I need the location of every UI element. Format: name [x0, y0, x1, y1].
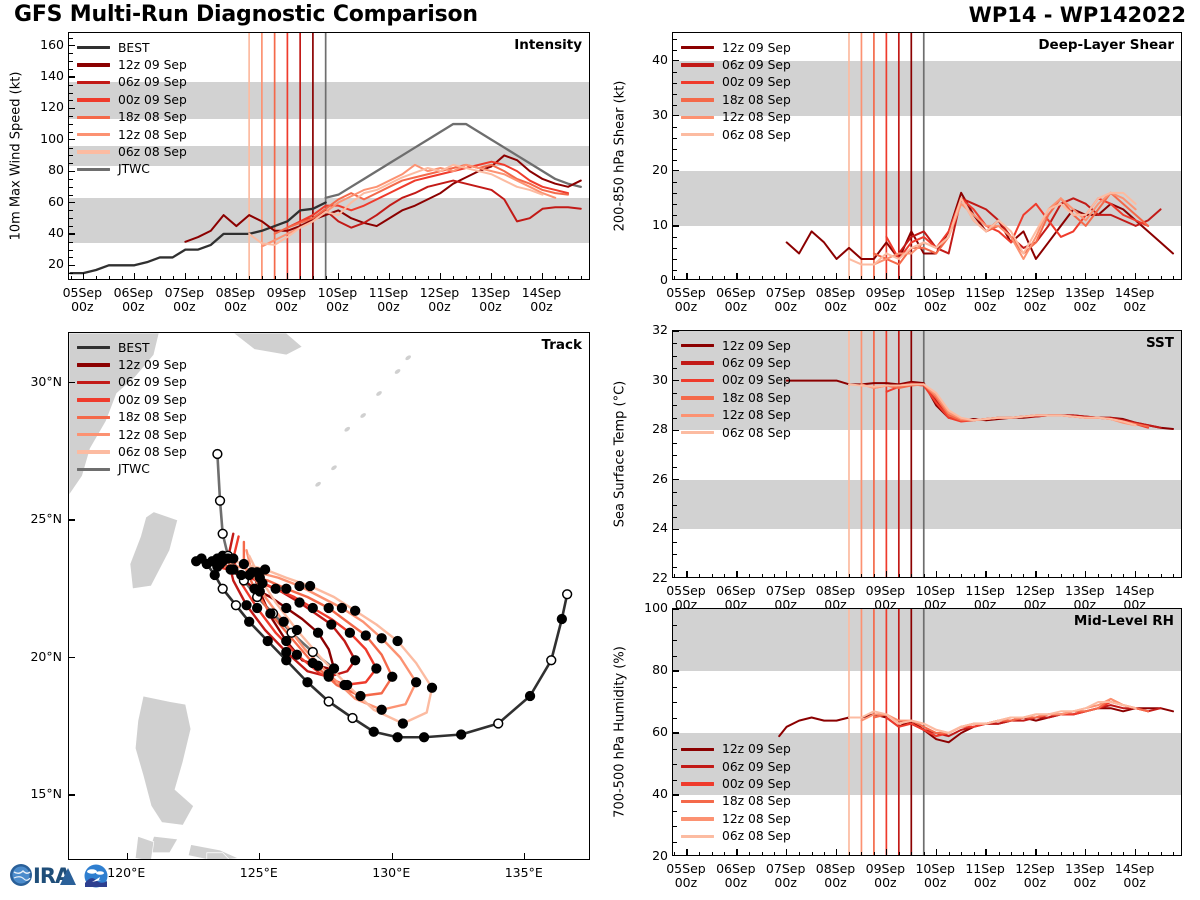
legend-label: 12z 09 Sep: [118, 359, 187, 371]
legend-label: 06z 09 Sep: [722, 357, 791, 369]
x-minor-tick: [874, 852, 875, 856]
x-tick-label: 125°E: [225, 866, 293, 880]
x-tick-mark: [786, 849, 787, 855]
y-minor-tick: [673, 687, 677, 688]
legend-item-best[interactable]: BEST: [77, 39, 187, 56]
legend-item-18z-08-sep[interactable]: 18z 08 Sep: [681, 389, 791, 406]
chart-corner-title: Deep-Layer Shear: [1038, 37, 1174, 53]
panel-shear[interactable]: Deep-Layer Shear12z 09 Sep06z 09 Sep00z …: [672, 32, 1182, 280]
map-frame: TrackBEST12z 09 Sep06z 09 Sep00z 09 Sep1…: [68, 332, 590, 860]
x-minor-tick: [774, 276, 775, 280]
x-minor-tick: [674, 574, 675, 578]
y-minor-tick: [673, 492, 677, 493]
x-tick-mark: [542, 273, 543, 279]
y-minor-tick: [673, 50, 677, 51]
x-minor-tick: [699, 276, 700, 280]
x-tick-mark: [1085, 571, 1086, 577]
x-minor-tick: [999, 574, 1000, 578]
x-minor-tick: [1098, 574, 1099, 578]
panel-sst[interactable]: SST12z 09 Sep06z 09 Sep00z 09 Sep18z 08 …: [672, 330, 1182, 578]
legend-label: 00z 09 Sep: [118, 394, 187, 406]
legend-item-12z-08-sep[interactable]: 12z 08 Sep: [77, 126, 187, 143]
legend-item-jtwc[interactable]: JTWC: [77, 461, 187, 478]
panel-rh[interactable]: Mid-Level RH12z 09 Sep06z 09 Sep00z 09 S…: [672, 608, 1182, 856]
x-minor-tick: [961, 852, 962, 856]
y-minor-tick: [673, 182, 677, 183]
x-minor-tick: [749, 276, 750, 280]
y-tick-label: 25°N: [16, 511, 62, 526]
legend-item-12z-09-sep[interactable]: 12z 09 Sep: [77, 56, 187, 73]
y-minor-tick: [69, 195, 73, 196]
y-minor-tick: [69, 210, 73, 211]
x-minor-tick: [1073, 852, 1074, 856]
x-tick-label: 14Sep00z: [1105, 862, 1165, 890]
y-minor-tick: [673, 640, 677, 641]
y-tick-label: 40: [638, 52, 668, 67]
y-tick-mark: [69, 139, 75, 140]
legend-label: 00z 09 Sep: [722, 374, 791, 386]
legend-item-00z-09-sep[interactable]: 00z 09 Sep: [77, 91, 187, 108]
legend-item-06z-09-sep[interactable]: 06z 09 Sep: [77, 374, 187, 391]
legend-swatch: [77, 133, 110, 136]
x-minor-tick: [712, 852, 713, 856]
y-tick-mark: [69, 657, 75, 658]
y-tick-mark: [673, 115, 679, 116]
legend-swatch: [681, 46, 714, 49]
panel-track[interactable]: TrackBEST12z 09 Sep06z 09 Sep00z 09 Sep1…: [68, 332, 590, 860]
y-minor-tick: [69, 116, 73, 117]
x-minor-tick: [1098, 852, 1099, 856]
chart-corner-title: SST: [1146, 335, 1174, 351]
legend-item-00z-09-sep[interactable]: 00z 09 Sep: [681, 775, 791, 792]
legend-swatch: [681, 133, 714, 136]
x-minor-tick: [428, 276, 429, 280]
y-tick-mark: [673, 380, 679, 381]
legend-swatch: [77, 450, 110, 453]
x-minor-tick: [1148, 276, 1149, 280]
x-minor-tick: [1148, 852, 1149, 856]
y-minor-tick: [673, 138, 677, 139]
y-axis-label: 200-850 hPa Shear (kt): [613, 81, 628, 232]
x-minor-tick: [924, 276, 925, 280]
legend-swatch: [77, 46, 110, 49]
x-minor-tick: [949, 574, 950, 578]
y-tick-mark: [673, 670, 679, 671]
x-minor-tick: [999, 276, 1000, 280]
y-tick-label: 60: [638, 724, 668, 739]
y-minor-tick: [673, 718, 677, 719]
x-minor-tick: [1161, 852, 1162, 856]
legend-swatch: [77, 98, 110, 101]
y-tick-label: 140: [34, 68, 64, 83]
legend-label: 00z 09 Sep: [118, 94, 187, 106]
x-minor-tick: [568, 276, 569, 280]
legend-label: 12z 08 Sep: [118, 429, 187, 441]
y-tick-label: 10: [638, 217, 668, 232]
legend-item-06z-09-sep[interactable]: 06z 09 Sep: [681, 354, 791, 371]
legend-item-06z-09-sep[interactable]: 06z 09 Sep: [681, 758, 791, 775]
chart-legend: BEST12z 09 Sep06z 09 Sep00z 09 Sep18z 08…: [77, 39, 187, 178]
x-minor-tick: [899, 276, 900, 280]
x-tick-mark: [134, 273, 135, 279]
legend-label: 18z 08 Sep: [722, 795, 791, 807]
x-tick-mark: [127, 853, 128, 859]
x-tick-mark: [985, 571, 986, 577]
legend-item-12z-08-sep[interactable]: 12z 08 Sep: [681, 109, 791, 126]
legend-item-12z-08-sep[interactable]: 12z 08 Sep: [681, 810, 791, 827]
y-tick-label: 26: [638, 471, 668, 486]
y-tick-label: 160: [34, 37, 64, 52]
legend-swatch: [77, 398, 110, 401]
x-minor-tick: [799, 276, 800, 280]
legend-label: 00z 09 Sep: [722, 778, 791, 790]
x-tick-mark: [185, 273, 186, 279]
x-tick-label: 135°E: [490, 866, 558, 880]
x-minor-tick: [326, 276, 327, 280]
y-minor-tick: [69, 38, 73, 39]
x-tick-mark: [236, 273, 237, 279]
legend-item-18z-08-sep[interactable]: 18z 08 Sep: [77, 109, 187, 126]
legend-label: 06z 09 Sep: [722, 59, 791, 71]
x-minor-tick: [160, 276, 161, 280]
legend-swatch: [77, 168, 110, 171]
x-tick-mark: [1035, 273, 1036, 279]
x-tick-mark: [1135, 273, 1136, 279]
y-tick-mark: [673, 60, 679, 61]
x-minor-tick: [555, 276, 556, 280]
panel-intensity[interactable]: IntensityBEST12z 09 Sep06z 09 Sep00z 09 …: [68, 32, 590, 280]
cira-logo: IRA: [8, 856, 118, 896]
x-minor-tick: [517, 276, 518, 280]
x-tick-mark: [524, 853, 525, 859]
x-minor-tick: [1161, 276, 1162, 280]
x-tick-mark: [389, 273, 390, 279]
x-tick-mark: [1085, 273, 1086, 279]
x-tick-mark: [786, 571, 787, 577]
legend-item-18z-08-sep[interactable]: 18z 08 Sep: [681, 91, 791, 108]
x-minor-tick: [911, 276, 912, 280]
plot-frame: Mid-Level RH12z 09 Sep06z 09 Sep00z 09 S…: [672, 608, 1182, 856]
x-minor-tick: [1061, 574, 1062, 578]
x-minor-tick: [824, 276, 825, 280]
x-tick-mark: [736, 849, 737, 855]
legend-label: 00z 09 Sep: [722, 76, 791, 88]
x-minor-tick: [849, 574, 850, 578]
legend-swatch: [681, 63, 714, 66]
y-tick-mark: [673, 170, 679, 171]
y-minor-tick: [673, 780, 677, 781]
y-minor-tick: [673, 554, 677, 555]
legend-label: 18z 08 Sep: [118, 411, 187, 423]
y-minor-tick: [673, 193, 677, 194]
legend-swatch: [77, 346, 110, 349]
x-minor-tick: [861, 276, 862, 280]
y-minor-tick: [69, 257, 73, 258]
x-tick-mark: [936, 849, 937, 855]
y-minor-tick: [673, 842, 677, 843]
x-tick-mark: [836, 849, 837, 855]
y-minor-tick: [673, 517, 677, 518]
x-tick-mark: [686, 273, 687, 279]
y-tick-label: 15°N: [16, 786, 62, 801]
y-minor-tick: [69, 242, 73, 243]
x-tick-mark: [1035, 849, 1036, 855]
y-tick-label: 60: [34, 194, 64, 209]
y-minor-tick: [673, 418, 677, 419]
plot-frame: Deep-Layer Shear12z 09 Sep06z 09 Sep00z …: [672, 32, 1182, 280]
x-minor-tick: [924, 852, 925, 856]
legend-swatch: [77, 381, 110, 384]
y-tick-label: 32: [638, 322, 668, 337]
legend-item-00z-09-sep[interactable]: 00z 09 Sep: [681, 74, 791, 91]
x-tick-mark: [886, 273, 887, 279]
y-tick-mark: [69, 265, 75, 266]
legend-swatch: [681, 800, 714, 803]
x-tick-mark: [686, 849, 687, 855]
legend-label: BEST: [118, 42, 150, 54]
x-tick-mark: [1135, 571, 1136, 577]
legend-swatch: [681, 835, 714, 838]
y-minor-tick: [69, 124, 73, 125]
x-tick-mark: [1035, 571, 1036, 577]
x-minor-tick: [1123, 852, 1124, 856]
legend-item-12z-09-sep[interactable]: 12z 09 Sep: [681, 741, 791, 758]
x-tick-mark: [1135, 849, 1136, 855]
x-minor-tick: [999, 852, 1000, 856]
x-minor-tick: [173, 276, 174, 280]
legend-item-12z-08-sep[interactable]: 12z 08 Sep: [681, 407, 791, 424]
y-minor-tick: [69, 163, 73, 164]
plot-frame: SST12z 09 Sep06z 09 Sep00z 09 Sep18z 08 …: [672, 330, 1182, 578]
x-minor-tick: [1061, 276, 1062, 280]
y-tick-label: 30: [638, 372, 668, 387]
legend-swatch: [77, 116, 110, 119]
y-minor-tick: [69, 226, 73, 227]
y-tick-mark: [69, 519, 75, 520]
y-minor-tick: [69, 273, 73, 274]
legend-label: 18z 08 Sep: [722, 94, 791, 106]
x-minor-tick: [479, 276, 480, 280]
x-minor-tick: [799, 852, 800, 856]
x-minor-tick: [453, 276, 454, 280]
x-tick-mark: [886, 571, 887, 577]
legend-label: BEST: [118, 342, 150, 354]
x-minor-tick: [1148, 574, 1149, 578]
legend-label: 06z 08 Sep: [118, 146, 187, 158]
x-tick-mark: [491, 273, 492, 279]
legend-swatch: [77, 468, 110, 471]
legend-item-06z-08-sep[interactable]: 06z 08 Sep: [681, 126, 791, 143]
y-tick-label: 20: [638, 848, 668, 863]
x-minor-tick: [874, 276, 875, 280]
x-minor-tick: [712, 276, 713, 280]
y-tick-label: 20: [34, 256, 64, 271]
legend-swatch: [681, 344, 714, 347]
y-minor-tick: [69, 250, 73, 251]
y-minor-tick: [673, 393, 677, 394]
legend-item-12z-08-sep[interactable]: 12z 08 Sep: [77, 426, 187, 443]
x-tick-mark: [936, 273, 937, 279]
x-minor-tick: [1011, 852, 1012, 856]
x-minor-tick: [351, 276, 352, 280]
x-minor-tick: [724, 276, 725, 280]
y-minor-tick: [673, 467, 677, 468]
x-tick-mark: [836, 571, 837, 577]
x-minor-tick: [961, 574, 962, 578]
legend-swatch: [77, 150, 110, 153]
x-minor-tick: [300, 276, 301, 280]
x-minor-tick: [712, 574, 713, 578]
y-minor-tick: [69, 85, 73, 86]
x-minor-tick: [874, 574, 875, 578]
x-minor-tick: [824, 852, 825, 856]
y-tick-label: 30°N: [16, 374, 62, 389]
y-minor-tick: [673, 368, 677, 369]
legend-label: 06z 09 Sep: [118, 76, 187, 88]
legend-item-06z-08-sep[interactable]: 06z 08 Sep: [77, 143, 187, 160]
x-minor-tick: [974, 852, 975, 856]
x-minor-tick: [812, 574, 813, 578]
x-minor-tick: [275, 276, 276, 280]
legend-swatch: [681, 379, 714, 382]
y-tick-mark: [69, 202, 75, 203]
x-tick-mark: [1085, 849, 1086, 855]
legend-item-jtwc[interactable]: JTWC: [77, 161, 187, 178]
x-minor-tick: [949, 852, 950, 856]
x-minor-tick: [961, 276, 962, 280]
y-minor-tick: [673, 455, 677, 456]
x-minor-tick: [949, 276, 950, 280]
legend-label: 06z 09 Sep: [118, 376, 187, 388]
legend-item-06z-08-sep[interactable]: 06z 08 Sep: [681, 424, 791, 441]
y-tick-mark: [69, 382, 75, 383]
y-minor-tick: [69, 69, 73, 70]
chart-legend: 12z 09 Sep06z 09 Sep00z 09 Sep18z 08 Sep…: [681, 39, 791, 143]
legend-label: 06z 09 Sep: [722, 761, 791, 773]
x-tick-mark: [287, 273, 288, 279]
legend-label: 06z 08 Sep: [118, 446, 187, 458]
x-minor-tick: [1111, 574, 1112, 578]
x-tick-mark: [886, 849, 887, 855]
legend-label: JTWC: [118, 463, 150, 475]
x-minor-tick: [762, 574, 763, 578]
y-minor-tick: [673, 215, 677, 216]
x-tick-label: 130°E: [357, 866, 425, 880]
legend-swatch: [681, 431, 714, 434]
y-minor-tick: [69, 61, 73, 62]
x-minor-tick: [1023, 276, 1024, 280]
x-minor-tick: [530, 276, 531, 280]
legend-item-06z-08-sep[interactable]: 06z 08 Sep: [77, 443, 187, 460]
x-minor-tick: [724, 852, 725, 856]
y-minor-tick: [69, 100, 73, 101]
y-tick-mark: [673, 529, 679, 530]
legend-label: JTWC: [118, 163, 150, 175]
legend-swatch: [681, 116, 714, 119]
y-minor-tick: [673, 702, 677, 703]
x-minor-tick: [1173, 276, 1174, 280]
legend-item-00z-09-sep[interactable]: 00z 09 Sep: [77, 391, 187, 408]
x-minor-tick: [147, 276, 148, 280]
y-tick-label: 24: [638, 520, 668, 535]
y-minor-tick: [673, 160, 677, 161]
legend-item-12z-09-sep[interactable]: 12z 09 Sep: [77, 356, 187, 373]
y-minor-tick: [673, 749, 677, 750]
x-minor-tick: [224, 276, 225, 280]
y-minor-tick: [69, 93, 73, 94]
chart-legend: BEST12z 09 Sep06z 09 Sep00z 09 Sep18z 08…: [77, 339, 187, 478]
x-minor-tick: [911, 574, 912, 578]
x-minor-tick: [762, 276, 763, 280]
y-minor-tick: [673, 127, 677, 128]
legend-item-12z-09-sep[interactable]: 12z 09 Sep: [681, 337, 791, 354]
y-minor-tick: [673, 149, 677, 150]
y-tick-label: 20: [638, 162, 668, 177]
y-tick-mark: [69, 76, 75, 77]
legend-item-06z-08-sep[interactable]: 06z 08 Sep: [681, 828, 791, 845]
legend-label: 06z 08 Sep: [722, 427, 791, 439]
legend-swatch: [681, 396, 714, 399]
y-minor-tick: [69, 187, 73, 188]
legend-item-06z-09-sep[interactable]: 06z 09 Sep: [681, 56, 791, 73]
legend-swatch: [681, 765, 714, 768]
legend-item-18z-08-sep[interactable]: 18z 08 Sep: [77, 409, 187, 426]
y-minor-tick: [673, 94, 677, 95]
storm-id-title: WP14 - WP142022: [969, 3, 1186, 27]
x-minor-tick: [812, 852, 813, 856]
y-tick-label: 30: [638, 107, 668, 122]
legend-swatch: [77, 63, 110, 66]
y-tick-label: 0: [638, 272, 668, 287]
legend-label: 12z 09 Sep: [118, 59, 187, 71]
x-minor-tick: [377, 276, 378, 280]
y-tick-label: 22: [638, 570, 668, 585]
y-tick-label: 120: [34, 99, 64, 114]
y-tick-mark: [69, 171, 75, 172]
y-tick-label: 100: [34, 131, 64, 146]
legend-label: 12z 08 Sep: [722, 111, 791, 123]
x-minor-tick: [313, 276, 314, 280]
y-tick-mark: [69, 233, 75, 234]
x-minor-tick: [1173, 574, 1174, 578]
x-minor-tick: [911, 852, 912, 856]
x-tick-mark: [686, 571, 687, 577]
y-tick-label: 80: [34, 162, 64, 177]
x-tick-label: 14Sep00z: [512, 286, 572, 314]
y-minor-tick: [673, 405, 677, 406]
x-minor-tick: [699, 574, 700, 578]
y-tick-mark: [673, 479, 679, 480]
y-minor-tick: [673, 356, 677, 357]
x-minor-tick: [724, 574, 725, 578]
x-minor-tick: [1073, 574, 1074, 578]
legend-item-18z-08-sep[interactable]: 18z 08 Sep: [681, 793, 791, 810]
legend-item-06z-09-sep[interactable]: 06z 09 Sep: [77, 74, 187, 91]
y-minor-tick: [673, 248, 677, 249]
y-minor-tick: [673, 39, 677, 40]
y-tick-label: 20°N: [16, 649, 62, 664]
x-minor-tick: [1111, 276, 1112, 280]
y-minor-tick: [69, 132, 73, 133]
legend-label: 18z 08 Sep: [118, 111, 187, 123]
x-tick-mark: [985, 273, 986, 279]
legend-item-best[interactable]: BEST: [77, 339, 187, 356]
y-minor-tick: [673, 443, 677, 444]
y-tick-label: 40: [34, 225, 64, 240]
legend-item-12z-09-sep[interactable]: 12z 09 Sep: [681, 39, 791, 56]
x-tick-mark: [83, 273, 84, 279]
legend-item-00z-09-sep[interactable]: 00z 09 Sep: [681, 372, 791, 389]
